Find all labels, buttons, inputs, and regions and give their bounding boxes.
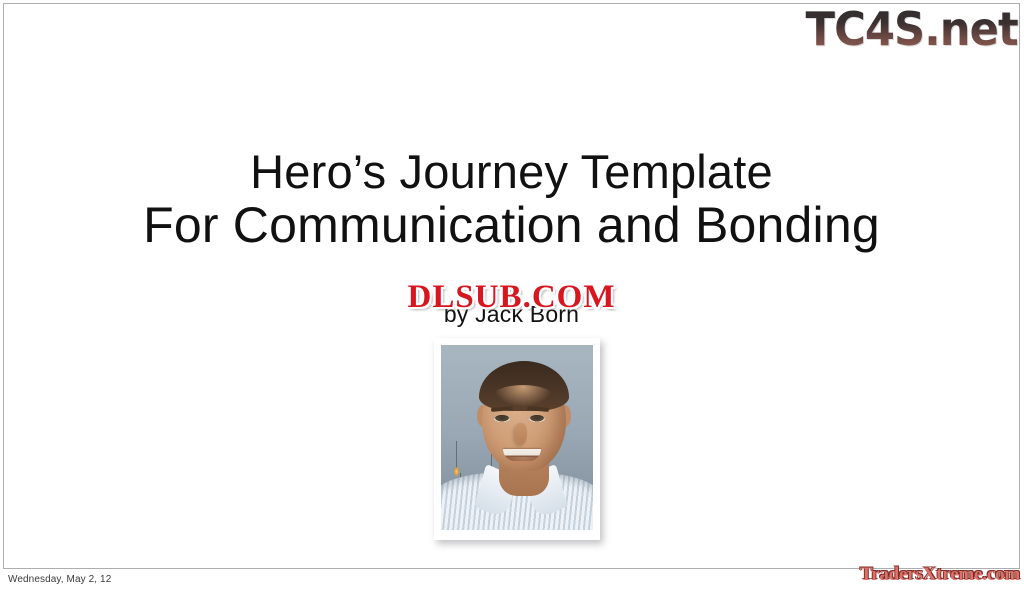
portrait-eye-right <box>529 415 545 422</box>
portrait-image <box>441 345 593 530</box>
portrait-eye-left <box>494 415 510 422</box>
slide-viewer: Hero’s Journey Template For Communicatio… <box>0 0 1024 592</box>
tc4s-watermark: TC4S.net <box>806 2 1018 56</box>
presentation-slide[interactable]: Hero’s Journey Template For Communicatio… <box>3 3 1020 569</box>
slide-date: Wednesday, May 2, 12 <box>8 574 111 585</box>
tradersxtreme-watermark: TradersXtreme.com <box>860 564 1020 586</box>
background-light <box>454 467 459 476</box>
author-portrait-photo <box>434 338 600 540</box>
portrait-nose <box>515 423 527 445</box>
portrait-chin <box>499 457 547 475</box>
slide-title: Hero’s Journey Template For Communicatio… <box>4 148 1019 251</box>
title-line-1: Hero’s Journey Template <box>4 148 1019 197</box>
dlsub-watermark: DLSUB.COM <box>408 279 616 316</box>
title-line-2: For Communication and Bonding <box>4 199 1019 251</box>
